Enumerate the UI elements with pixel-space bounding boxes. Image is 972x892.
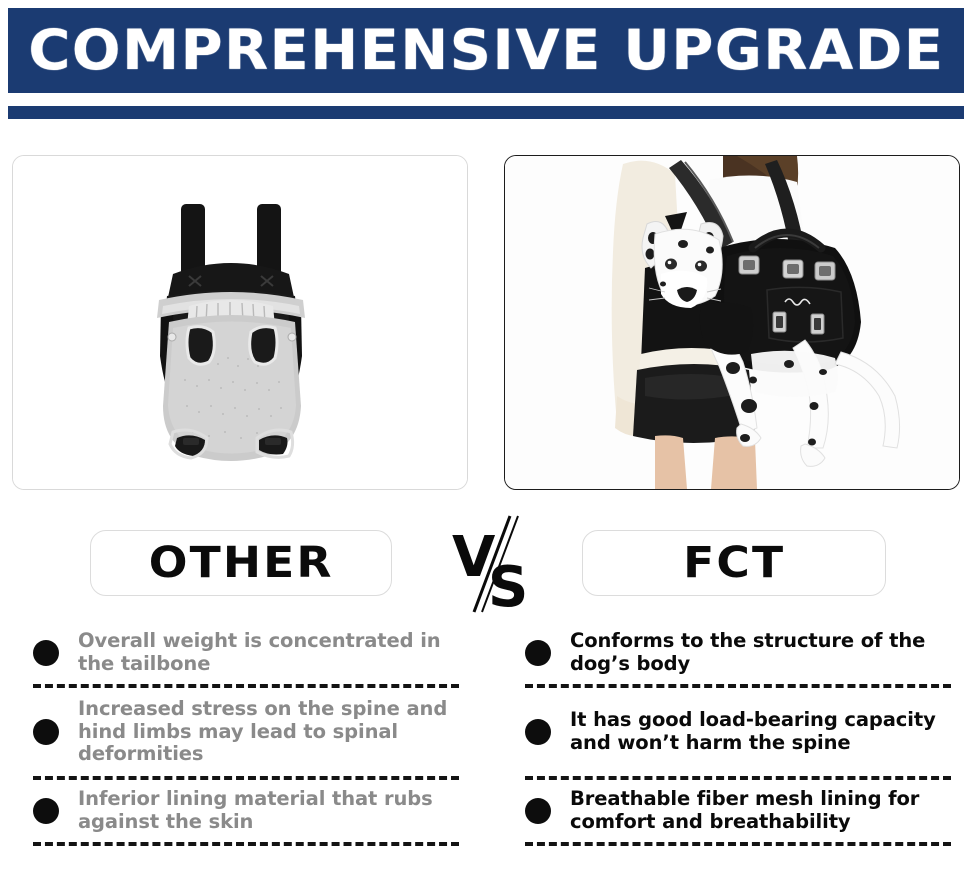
list-item-label: Inferior lining material that rubs again… bbox=[78, 788, 472, 834]
list-item-label: Conforms to the structure of the dog’s b… bbox=[570, 630, 964, 676]
vs-badge: V S bbox=[448, 514, 544, 614]
list-item: Overall weight is concentrated in the ta… bbox=[20, 626, 472, 680]
divider bbox=[525, 842, 951, 846]
bullet-dot-icon bbox=[33, 798, 59, 824]
dog-carrier-lifestyle-illustration bbox=[505, 156, 959, 489]
comparison-column-other: Overall weight is concentrated in the ta… bbox=[20, 626, 472, 850]
list-item-label: Overall weight is concentrated in the ta… bbox=[78, 630, 472, 676]
list-item-label: It has good load-bearing capacity and wo… bbox=[570, 709, 964, 755]
divider bbox=[33, 776, 459, 780]
label-other-text: OTHER bbox=[149, 542, 334, 585]
header-accent-stripe bbox=[8, 106, 964, 119]
bullet-dot-icon bbox=[33, 719, 59, 745]
list-item: Conforms to the structure of the dog’s b… bbox=[512, 626, 964, 680]
bullet-dot-icon bbox=[33, 640, 59, 666]
svg-text:S: S bbox=[488, 555, 528, 614]
list-item-label: Increased stress on the spine and hind l… bbox=[78, 698, 472, 766]
bullet-dot-icon bbox=[525, 719, 551, 745]
label-other: OTHER bbox=[90, 530, 392, 596]
vs-icon: V S bbox=[448, 514, 544, 614]
header-banner: COMPREHENSIVE UPGRADE bbox=[8, 8, 964, 93]
divider bbox=[33, 842, 459, 846]
product-photo-fct bbox=[504, 155, 960, 490]
bullet-dot-icon bbox=[525, 798, 551, 824]
list-item: Inferior lining material that rubs again… bbox=[20, 784, 472, 838]
product-photo-other bbox=[12, 155, 468, 490]
comparison-column-fct: Conforms to the structure of the dog’s b… bbox=[512, 626, 964, 850]
infographic-page: COMPREHENSIVE UPGRADE bbox=[0, 0, 972, 892]
list-item: Breathable fiber mesh lining for comfort… bbox=[512, 784, 964, 838]
divider bbox=[525, 684, 951, 688]
divider bbox=[525, 776, 951, 780]
bullet-dot-icon bbox=[525, 640, 551, 666]
list-item-label: Breathable fiber mesh lining for comfort… bbox=[570, 788, 964, 834]
label-fct-text: FCT bbox=[683, 542, 785, 585]
label-fct: FCT bbox=[582, 530, 886, 596]
divider bbox=[33, 684, 459, 688]
list-item: Increased stress on the spine and hind l… bbox=[20, 692, 472, 772]
carrier-backpack-illustration bbox=[13, 156, 467, 489]
list-item: It has good load-bearing capacity and wo… bbox=[512, 692, 964, 772]
page-title: COMPREHENSIVE UPGRADE bbox=[28, 23, 944, 78]
